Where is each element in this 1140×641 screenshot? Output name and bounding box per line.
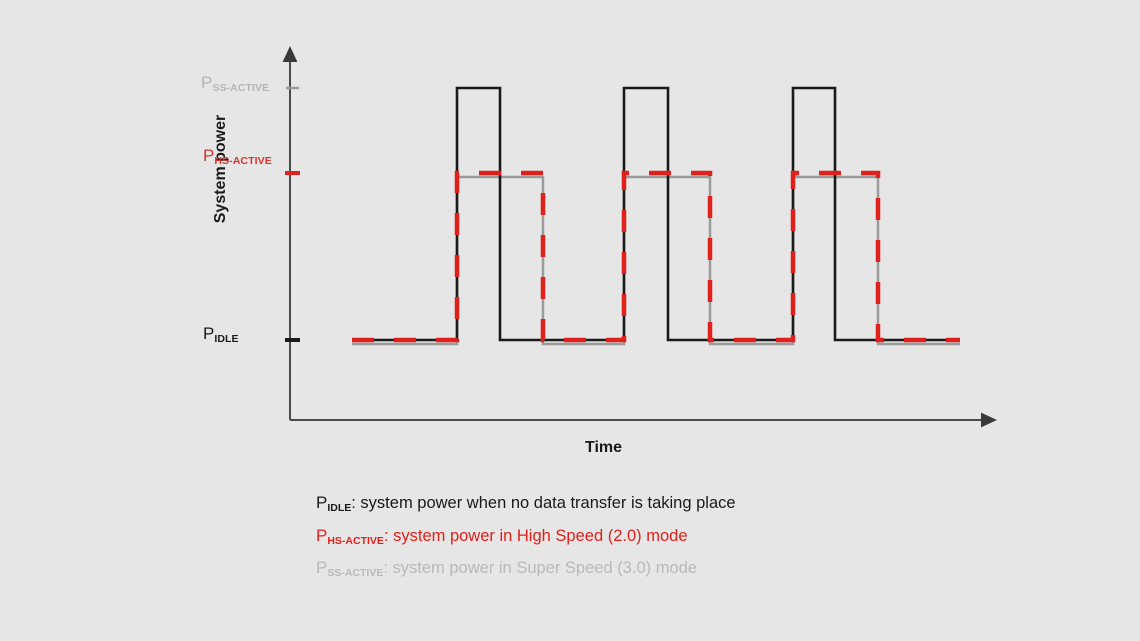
tick-subscript-hs: HS-ACTIVE [214,155,272,167]
legend-symbol-idle: PIDLE [316,493,351,512]
legend-symbol-hs: PHS-ACTIVE [316,526,384,545]
legend-text-idle: : system power when no data transfer is … [351,494,735,512]
tick-symbol-ss: P [201,73,212,92]
legend-item-idle: PIDLE: system power when no data transfe… [316,494,1016,512]
chart-legend: PIDLE: system power when no data transfe… [316,494,1016,592]
legend-item-ss-active: PSS-ACTIVE: system power in Super Speed … [316,559,1016,577]
tick-symbol-hs: P [203,146,214,165]
legend-item-hs-active: PHS-ACTIVE: system power in High Speed (… [316,527,1016,545]
tick-label-idle: PIDLE [203,325,239,342]
legend-text-ss: : system power in Super Speed (3.0) mode [383,559,697,577]
tick-subscript-ss: SS-ACTIVE [212,82,269,94]
x-axis-title: Time [585,439,622,457]
tick-label-ss-active: PSS-ACTIVE [201,74,269,91]
legend-symbol-ss: PSS-ACTIVE [316,558,383,577]
ss-active-waveform-underlay [352,177,960,344]
hs-active-waveform [352,173,960,340]
legend-text-hs: : system power in High Speed (2.0) mode [384,527,688,545]
ss-active-waveform [352,88,960,340]
tick-label-hs-active: PHS-ACTIVE [203,147,272,164]
tick-symbol-idle: P [203,324,214,343]
y-axis-title: System power [212,79,230,259]
chart-canvas: System power Time PSS-ACTIVE PHS-ACTIVE … [0,0,1140,641]
tick-subscript-idle: IDLE [214,333,238,345]
